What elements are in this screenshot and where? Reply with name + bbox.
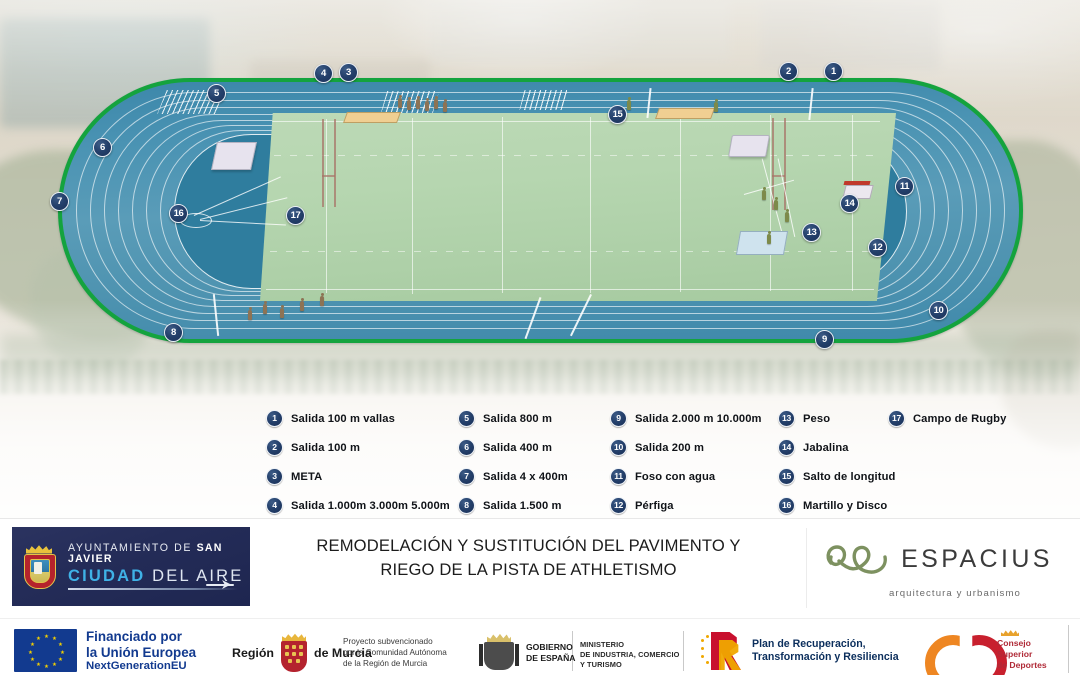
csd-logo: Consejo Superior de Deportes: [925, 629, 1047, 671]
athletics-track-diagram: [58, 78, 1023, 343]
gobierno-de-espana-logo: GOBIERNO DE ESPAÑA: [478, 633, 576, 673]
legend-label-4: Salida 1.000m 3.000m 5.000m: [291, 500, 450, 512]
subvention-line-1: Proyecto subvencionado: [343, 636, 447, 647]
eu-line-1: Financiado por: [86, 629, 196, 645]
gobierno-line-1: GOBIERNO: [526, 642, 576, 653]
legend-badge-1: 1: [266, 410, 283, 427]
csd-line-1: Consejo: [997, 638, 1047, 649]
legend-label-13: Peso: [803, 413, 830, 425]
tower-icon: [34, 562, 42, 574]
legend-badge-3: 3: [266, 468, 283, 485]
divider: [1068, 625, 1069, 673]
airplane-icon: [206, 580, 234, 589]
pitch-marking: [590, 117, 591, 293]
crown-icon: [26, 545, 52, 554]
poster-page: 1234567891011121314151617 1Salida 100 m …: [0, 0, 1080, 675]
legend-column-3: 9Salida 2.000 m 10.000m10Salida 200 m11F…: [610, 404, 762, 520]
page-title-line-1: REMODELACIÓN Y SUSTITUCIÓN DEL PAVIMENTO…: [256, 534, 801, 558]
ministerio-text: MINISTERIO DE INDUSTRIA, COMERCIO Y TURI…: [580, 640, 680, 670]
map-marker-13[interactable]: 13: [802, 223, 821, 242]
rugby-goal-post: [322, 119, 324, 207]
pitch-marking: [266, 289, 874, 290]
legend-item-3[interactable]: 3META: [266, 462, 450, 491]
subvention-note: Proyecto subvencionado por la Comunidad …: [343, 636, 447, 669]
map-marker-6[interactable]: 6: [93, 138, 112, 157]
map-marker-7[interactable]: 7: [50, 192, 69, 211]
subvention-line-3: de la Región de Murcia: [343, 658, 447, 669]
athlete-figure: [762, 190, 766, 200]
legend-item-16[interactable]: 16Martillo y Disco: [778, 491, 895, 520]
legend-badge-7: 7: [458, 468, 475, 485]
rugby-goal-post: [334, 119, 336, 207]
legend-label-15: Salto de longitud: [803, 471, 895, 483]
murcia-coat-of-arms-icon: [279, 633, 309, 673]
map-marker-1[interactable]: 1: [824, 62, 843, 81]
pitch-marking: [770, 115, 771, 291]
athlete-figure: [627, 100, 631, 110]
athlete-figure: [416, 99, 420, 109]
legend-label-3: META: [291, 471, 322, 483]
espacius-logo: ESPACIUS arquitectura y urbanismo: [806, 528, 1069, 608]
high-jump-mat: [211, 142, 257, 170]
funding-logos-strip: ★★ ★★ ★★ ★★ ★★ ★★ Financiado por la Unió…: [0, 618, 1080, 675]
legend-column-1: 1Salida 100 m vallas2Salida 100 m3META4S…: [266, 404, 450, 520]
legend-label-6: Salida 400 m: [483, 442, 552, 454]
gobierno-text: GOBIERNO DE ESPAÑA: [526, 642, 576, 663]
legend-item-9[interactable]: 9Salida 2.000 m 10.000m: [610, 404, 762, 433]
legend-badge-2: 2: [266, 439, 283, 456]
espacius-swirl-icon: [823, 537, 897, 581]
legend-badge-16: 16: [778, 497, 795, 514]
legend-label-10: Salida 200 m: [635, 442, 704, 454]
legend-label-1: Salida 100 m vallas: [291, 413, 395, 425]
athlete-figure: [774, 200, 778, 210]
eu-stars: ★★ ★★ ★★ ★★ ★★ ★★: [14, 629, 77, 672]
start-line: [525, 297, 542, 339]
shield-body: [484, 642, 514, 670]
legend-column-5: 17Campo de Rugby: [888, 404, 1006, 433]
gobierno-line-2: DE ESPAÑA: [526, 653, 576, 664]
legend-badge-6: 6: [458, 439, 475, 456]
map-marker-4[interactable]: 4: [314, 64, 333, 83]
san-javier-municipal-logo: AYUNTAMIENTO DE SAN JAVIER CIUDAD DEL AI…: [12, 527, 250, 606]
legend-badge-15: 15: [778, 468, 795, 485]
eu-line-3: NextGenerationEU: [86, 660, 196, 673]
map-marker-12[interactable]: 12: [868, 238, 887, 257]
municipal-slogan-strong: CIUDAD: [68, 567, 145, 585]
athlete-figure: [398, 98, 402, 108]
legend-badge-11: 11: [610, 468, 627, 485]
eu-funding-text: Financiado por la Unión Europea NextGene…: [86, 629, 196, 673]
map-marker-3[interactable]: 3: [339, 63, 358, 82]
pillar-icon: [515, 644, 519, 666]
map-marker-16[interactable]: 16: [169, 204, 188, 223]
legend-badge-17: 17: [888, 410, 905, 427]
start-line: [213, 294, 219, 336]
spain-coat-of-arms-icon: [478, 633, 520, 673]
athlete-figure: [280, 308, 284, 318]
athlete-figure: [248, 310, 252, 320]
csd-line-2: Superior: [997, 649, 1047, 660]
legend-item-14[interactable]: 14Jabalina: [778, 433, 895, 462]
page-title: REMODELACIÓN Y SUSTITUCIÓN DEL PAVIMENTO…: [256, 534, 801, 581]
pitch-marking: [412, 118, 413, 294]
municipal-prefix: AYUNTAMIENTO DE: [68, 542, 197, 554]
legend-badge-9: 9: [610, 410, 627, 427]
legend-item-11[interactable]: 11Foso con agua: [610, 462, 762, 491]
subvention-line-2: por la Comunidad Autónoma: [343, 647, 447, 658]
map-marker-15[interactable]: 15: [608, 105, 627, 124]
map-marker-9[interactable]: 9: [815, 330, 834, 349]
espacius-tagline: arquitectura y urbanismo: [889, 588, 1021, 599]
csd-text: Consejo Superior de Deportes: [997, 629, 1047, 670]
pillar-icon: [479, 644, 483, 666]
legend-item-13[interactable]: 13Peso: [778, 404, 895, 433]
legend-badge-8: 8: [458, 497, 475, 514]
athlete-figure: [785, 212, 789, 222]
page-title-line-2: RIEGO DE LA PISTA DE ATHLETISMO: [256, 558, 801, 582]
shield-body: [24, 554, 56, 589]
long-jump-sandpit: [343, 112, 401, 123]
long-jump-sandpit: [655, 108, 715, 119]
pitch-marking: [680, 116, 681, 292]
shot-put-pad: [728, 135, 770, 157]
athlete-figure: [443, 102, 447, 112]
shield-body: [281, 641, 307, 672]
rugby-pitch: [260, 113, 896, 301]
track-running-surface: [62, 82, 1019, 339]
athlete-figure: [714, 102, 718, 112]
subvention-text: Proyecto subvencionado por la Comunidad …: [343, 636, 447, 669]
legend-item-6[interactable]: 6Salida 400 m: [458, 433, 568, 462]
legend-label-9: Salida 2.000 m 10.000m: [635, 413, 762, 425]
athlete-figure: [425, 101, 429, 111]
legend-label-5: Salida 800 m: [483, 413, 552, 425]
murcia-prefix: Región: [232, 646, 274, 660]
legend-item-15[interactable]: 15Salto de longitud: [778, 462, 895, 491]
start-line-hatch: [520, 90, 569, 110]
crown-icon: [487, 633, 511, 642]
legend-label-17: Campo de Rugby: [913, 413, 1006, 425]
map-marker-14[interactable]: 14: [840, 194, 859, 213]
legend-label-7: Salida 4 x 400m: [483, 471, 568, 483]
crown-icon: [1001, 629, 1019, 636]
rugby-goal-crossbar: [322, 175, 335, 177]
pole-vault-mat: [736, 231, 788, 255]
legend-column-4: 13Peso14Jabalina15Salto de longitud16Mar…: [778, 404, 895, 520]
legend-item-7[interactable]: 7Salida 4 x 400m: [458, 462, 568, 491]
european-union-flag-icon: ★★ ★★ ★★ ★★ ★★ ★★: [14, 629, 77, 672]
water-jump-barrier: [844, 181, 871, 185]
legend-label-11: Foso con agua: [635, 471, 715, 483]
legend: 1Salida 100 m vallas2Salida 100 m3META4S…: [0, 404, 1080, 518]
prtr-emblem-icon: [697, 630, 745, 672]
espacius-logo-row: ESPACIUS: [823, 537, 1053, 581]
athlete-figure: [320, 296, 324, 306]
legend-label-8: Salida 1.500 m: [483, 500, 562, 512]
municipal-line-1: AYUNTAMIENTO DE SAN JAVIER: [68, 543, 250, 565]
divider: [683, 631, 684, 671]
map-marker-10[interactable]: 10: [929, 301, 948, 320]
athlete-figure: [300, 301, 304, 311]
athlete-figure: [767, 234, 771, 244]
legend-item-2[interactable]: 2Salida 100 m: [266, 433, 450, 462]
legend-label-12: Pérfiga: [635, 500, 674, 512]
legend-item-8[interactable]: 8Salida 1.500 m: [458, 491, 568, 520]
map-marker-5[interactable]: 5: [207, 84, 226, 103]
legend-item-17[interactable]: 17Campo de Rugby: [888, 404, 1006, 433]
eu-funding-logo: ★★ ★★ ★★ ★★ ★★ ★★ Financiado por la Unió…: [14, 629, 196, 673]
ministerio-line-3: Y TURISMO: [580, 660, 680, 670]
legend-badge-13: 13: [778, 410, 795, 427]
rugby-goal-crossbar: [772, 175, 785, 177]
map-marker-11[interactable]: 11: [895, 177, 914, 196]
prtr-line-2: Transformación y Resiliencia: [752, 651, 899, 664]
prtr-r-accent: [719, 640, 741, 670]
ministerio-line-2: DE INDUSTRIA, COMERCIO: [580, 650, 680, 660]
prtr-text: Plan de Recuperación, Transformación y R…: [752, 638, 899, 664]
pitch-marking: [326, 119, 327, 293]
eu-line-2: la Unión Europea: [86, 645, 196, 661]
ministerio-line-1: MINISTERIO: [580, 640, 680, 650]
legend-item-5[interactable]: 5Salida 800 m: [458, 404, 568, 433]
athlete-figure: [263, 304, 267, 314]
ministerio-logo: MINISTERIO DE INDUSTRIA, COMERCIO Y TURI…: [580, 640, 680, 670]
legend-badge-10: 10: [610, 439, 627, 456]
legend-badge-5: 5: [458, 410, 475, 427]
athlete-figure: [407, 100, 411, 110]
map-marker-8[interactable]: 8: [164, 323, 183, 342]
prtr-line-1: Plan de Recuperación,: [752, 638, 899, 651]
legend-badge-14: 14: [778, 439, 795, 456]
pitch-marking: [502, 117, 503, 293]
legend-column-2: 5Salida 800 m6Salida 400 m7Salida 4 x 40…: [458, 404, 568, 520]
map-marker-17[interactable]: 17: [286, 206, 305, 225]
map-marker-2[interactable]: 2: [779, 62, 798, 81]
legend-item-1[interactable]: 1Salida 100 m vallas: [266, 404, 450, 433]
legend-label-2: Salida 100 m: [291, 442, 360, 454]
legend-item-12[interactable]: 12Pérfiga: [610, 491, 762, 520]
csd-emblem-icon: [925, 629, 991, 671]
legend-label-14: Jabalina: [803, 442, 849, 454]
espacius-name: ESPACIUS: [901, 545, 1053, 574]
athlete-figure: [434, 99, 438, 109]
legend-item-10[interactable]: 10Salida 200 m: [610, 433, 762, 462]
crown-icon: [282, 633, 306, 641]
csd-line-3: de Deportes: [997, 660, 1047, 671]
legend-item-4[interactable]: 4Salida 1.000m 3.000m 5.000m: [266, 491, 450, 520]
legend-label-16: Martillo y Disco: [803, 500, 887, 512]
legend-badge-4: 4: [266, 497, 283, 514]
prtr-logo: Plan de Recuperación, Transformación y R…: [697, 630, 899, 672]
legend-badge-12: 12: [610, 497, 627, 514]
coat-of-arms-icon: [22, 545, 56, 589]
